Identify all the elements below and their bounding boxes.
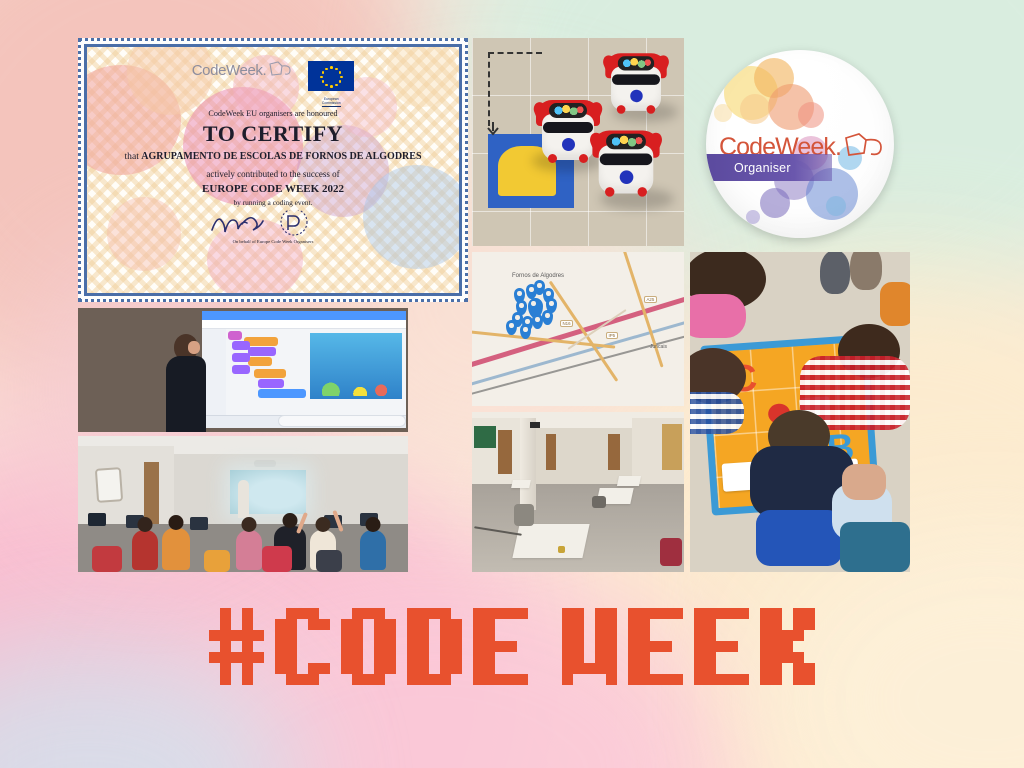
- student: [162, 528, 190, 570]
- pixel-char-e: [628, 608, 683, 685]
- photo-map: Fornos de Algodres Juncais A25 N16 IP5: [472, 252, 684, 406]
- teacher-silhouette: [164, 334, 210, 432]
- certificate-certify-title: TO CERTIFY: [113, 121, 433, 147]
- codeweek-logo: CodeWeek.: [192, 61, 295, 79]
- pixel-char-o: [341, 608, 396, 685]
- student: [360, 530, 386, 570]
- certificate-signature-caption: On behalf of Europe Code Week Organisers: [113, 239, 433, 244]
- photo-robots: [472, 38, 684, 246]
- certificate-contributed-line: actively contributed to the success of: [113, 169, 433, 179]
- adult-hand: [842, 464, 886, 500]
- student: [132, 530, 158, 570]
- photo-collage: CodeWeek.: [78, 38, 910, 572]
- hashtag-headline: [0, 608, 1024, 685]
- pixel-char-e: [473, 608, 528, 685]
- adult-shoe: [820, 252, 850, 294]
- certificate-recipient-name: AGRUPAMENTO DE ESCOLAS DE FORNOS DE ALGO…: [141, 151, 421, 162]
- signature-icon: [198, 210, 348, 240]
- photo-classroom-audience: [78, 436, 408, 572]
- photo-scratch-projection: [78, 308, 408, 432]
- eu-emblem-caption: EuropeanCommission: [322, 97, 341, 108]
- pixel-char-hash: [209, 608, 264, 685]
- adult-shoe: [850, 252, 882, 290]
- certificate-image: CodeWeek.: [78, 38, 468, 302]
- robot-2: [536, 100, 600, 162]
- student: [236, 530, 262, 570]
- photo-kids-board-game: C B: [690, 252, 910, 572]
- certificate-logos: CodeWeek.: [113, 61, 433, 101]
- pixel-char-d: [407, 608, 462, 685]
- certificate-inner-border: CodeWeek.: [84, 44, 462, 296]
- badge-role-label: Organiser: [734, 161, 791, 175]
- map-road-shield: IP5: [606, 332, 618, 339]
- certificate-by-line: by running a coding event.: [113, 198, 433, 207]
- certificate-honoured-line: CodeWeek EU organisers are honoured: [113, 109, 433, 118]
- photo-school-hall: [472, 412, 684, 572]
- arrow-down-icon: [484, 120, 502, 136]
- pixel-char-k: [760, 608, 815, 685]
- robot-1: [605, 53, 666, 113]
- badge-speech-bubble-icon: [843, 132, 887, 162]
- map-nearby-label: Juncais: [650, 344, 667, 350]
- pixel-char-c: [275, 608, 330, 685]
- codeweek-logo-text: CodeWeek.: [192, 62, 267, 79]
- badge-role-banner: Organiser: [706, 154, 832, 181]
- map-place-label: Fornos de Algodres: [512, 273, 564, 279]
- certificate-signature-area: On behalf of Europe Code Week Organisers: [113, 208, 433, 246]
- eu-flag-icon: [308, 61, 354, 91]
- certificate-recipient-line: that AGRUPAMENTO DE ESCOLAS DE FORNOS DE…: [113, 151, 433, 164]
- codeweek-speech-bubble-icon: [268, 61, 294, 79]
- eu-emblem: EuropeanCommission: [308, 61, 354, 109]
- certificate-event-name: EUROPE CODE WEEK 2022: [113, 183, 433, 195]
- robot-3: [592, 130, 659, 195]
- child-pink: [690, 252, 774, 318]
- pixel-char-w: [562, 608, 617, 685]
- pixel-char-e: [694, 608, 749, 685]
- pixel-headline-text: [209, 608, 815, 685]
- certificate-that-prefix: that: [124, 151, 138, 162]
- map-road-shield: A25: [644, 296, 657, 303]
- map-road-shield: N16: [560, 320, 573, 327]
- codeweek-organiser-badge: CodeWeek. Organiser: [690, 38, 910, 258]
